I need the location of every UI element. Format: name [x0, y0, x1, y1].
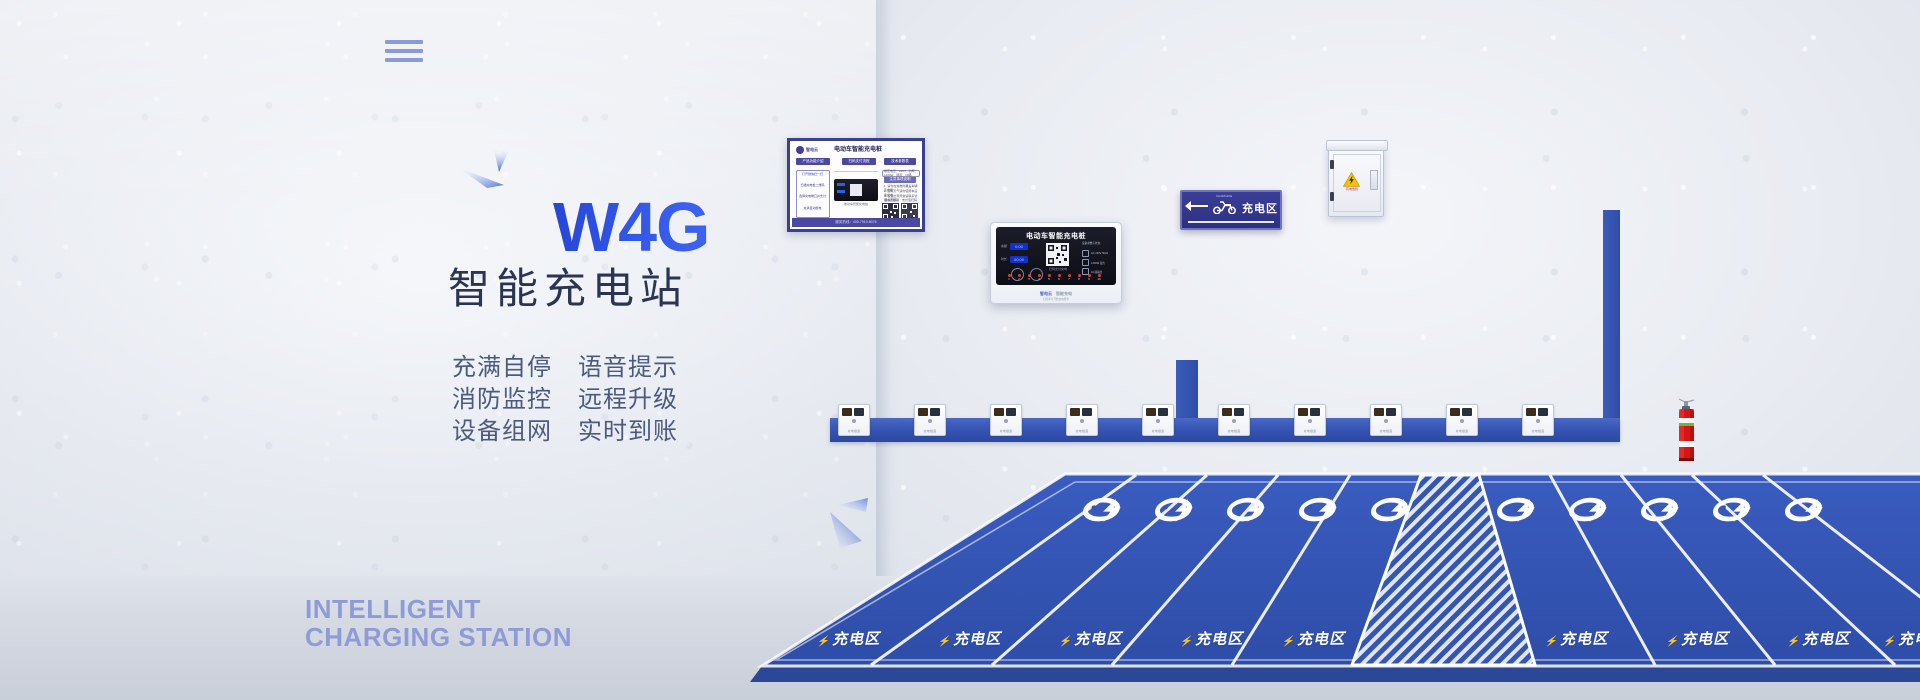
- pile-port[interactable]: 2: [1014, 274, 1024, 281]
- feature-item: 语音提示: [578, 352, 704, 384]
- charging-pile-screen: 电动车智能充电桩 余额 0.00 时长 00:00 扫码支付充电 设备参数与状态…: [996, 227, 1116, 285]
- poster-device-caption: 电动车智能充电桩: [834, 203, 878, 207]
- pile-led-label-1: 余额: [1001, 243, 1007, 250]
- pile-port[interactable]: 1: [1004, 274, 1014, 281]
- poster-device-image: [834, 179, 878, 201]
- feature-item: 充满自停: [452, 352, 578, 384]
- fire-extinguisher[interactable]: [1675, 398, 1701, 464]
- wall-socket[interactable]: 充电插座: [1522, 404, 1554, 436]
- pile-spec-header-text: 设备参数与状态: [1082, 241, 1100, 245]
- conduit-vertical-right: [1603, 210, 1620, 422]
- conduit-vertical-pile: [1176, 360, 1198, 422]
- pile-led-value-2: 00:00: [1010, 256, 1028, 263]
- english-line-1: INTELLIGENT: [305, 595, 572, 623]
- scene-room: 智电云 电动车智能充电桩 产品功能介绍 扫码支付流程 技术参数表 注意事项说明 …: [880, 0, 1920, 700]
- power-icon: [1082, 259, 1089, 266]
- pile-port[interactable]: 5: [1044, 274, 1054, 281]
- pile-spec-header: 设备参数与状态: [1082, 241, 1100, 245]
- wall-socket[interactable]: 充电插座: [1142, 404, 1174, 436]
- wall-socket[interactable]: 充电插座: [1294, 404, 1326, 436]
- wall-socket[interactable]: 充电插座: [914, 404, 946, 436]
- sign-underline: [1188, 221, 1274, 223]
- page-title: W4G: [553, 192, 709, 262]
- cabinet-top: [1326, 140, 1388, 151]
- poster-flow-2: 扫描充电桩二维码: [799, 184, 826, 188]
- pile-spec-row-2: 1200W 最大: [1082, 259, 1105, 266]
- left-arrow-icon: [1190, 205, 1208, 207]
- pile-port[interactable]: 4: [1034, 274, 1044, 281]
- feature-item: 实时到账: [578, 416, 704, 448]
- poster-logo: 智电云: [796, 146, 818, 154]
- wall-socket-label: 充电插座: [1523, 430, 1553, 433]
- wall-socket-label: 充电插座: [1143, 430, 1173, 433]
- pile-port-number: 1: [1004, 278, 1014, 281]
- menu-bar: [385, 58, 423, 62]
- pile-port-number: 2: [1014, 278, 1024, 281]
- sign-sub-label: CHARGING: [1216, 194, 1232, 198]
- pile-port[interactable]: 9: [1084, 274, 1094, 281]
- poster-qr-wechat-label: 微信扫码: [882, 198, 899, 202]
- pile-spec-value-2: 1200W 最大: [1091, 261, 1105, 265]
- wall-socket-label: 充电插座: [1219, 430, 1249, 433]
- pile-port-number: 10: [1094, 278, 1104, 281]
- poster-flow-1: 打开微信扫一扫: [799, 173, 826, 177]
- poster-logo-mark: [796, 146, 804, 154]
- english-line-2: CHARGING STATION: [305, 623, 572, 651]
- pile-port[interactable]: 10: [1094, 274, 1104, 281]
- poster-spec-line: 额定电压：220V · 功率：1200W · 通道：10路: [884, 170, 918, 178]
- pile-footer-note: 扫码即可开始充电服务: [991, 297, 1121, 301]
- pile-port-number: 3: [1024, 278, 1034, 281]
- pile-qr-caption: 扫码支付充电: [1040, 267, 1076, 271]
- feature-row: 设备组网 实时到账: [452, 416, 704, 448]
- charging-pile[interactable]: 电动车智能充电桩 余额 0.00 时长 00:00 扫码支付充电 设备参数与状态…: [990, 222, 1122, 304]
- poster-title: 电动车智能充电桩: [826, 147, 890, 153]
- wall-socket-label: 充电插座: [1067, 430, 1097, 433]
- high-voltage-warning-icon: [1343, 172, 1360, 187]
- pile-qr-code[interactable]: [1046, 243, 1069, 266]
- pile-port-number: 8: [1074, 278, 1084, 281]
- wall-socket[interactable]: 充电插座: [1218, 404, 1250, 436]
- decor-triangles-top: [455, 142, 535, 214]
- direction-sign[interactable]: CHARGING 充电区: [1180, 190, 1282, 230]
- pile-port[interactable]: 6: [1054, 274, 1064, 281]
- pile-port-row: 1 2 3 4 5 6 7 8 9 10: [1004, 274, 1104, 281]
- feature-list: 充满自停 语音提示 消防监控 远程升级 设备组网 实时到账: [452, 352, 704, 448]
- pile-port-number: 9: [1084, 278, 1094, 281]
- feature-item: 远程升级: [578, 384, 704, 416]
- pile-spec-value-3: 10 路输出: [1091, 270, 1102, 274]
- cabinet-warning-label: 有电危险: [1339, 187, 1365, 191]
- pile-led-value-1: 0.00: [1010, 243, 1028, 250]
- charging-pile-title: 电动车智能充电桩: [996, 231, 1116, 241]
- decor-triangles-bottom: [822, 482, 914, 574]
- hero-banner: 智电云 电动车智能充电桩 产品功能介绍 扫码支付流程 技术参数表 注意事项说明 …: [0, 0, 1920, 700]
- wall-socket[interactable]: 充电插座: [1446, 404, 1478, 436]
- menu-bar: [385, 49, 423, 53]
- pile-brand-sub: 智能充电: [1056, 291, 1072, 297]
- pile-led-label-2: 时长: [1001, 256, 1007, 263]
- voltage-icon: [1082, 250, 1089, 257]
- pile-brand: 智电云: [1040, 291, 1052, 297]
- wall-poster[interactable]: 智电云 电动车智能充电桩 产品功能介绍 扫码支付流程 技术参数表 注意事项说明 …: [787, 138, 925, 232]
- menu-button[interactable]: [385, 40, 423, 62]
- wall-socket-label: 充电插座: [1447, 430, 1477, 433]
- wall-socket-label: 充电插座: [1295, 430, 1325, 433]
- socket-rail: 充电插座 充电插座 充电插座 充电插座 充电插座 充电插座 充电插座 充电插座 …: [830, 418, 1620, 442]
- poster-tag-mid: 扫码支付流程: [842, 158, 876, 165]
- wall-socket[interactable]: 充电插座: [990, 404, 1022, 436]
- poster-brand: 智电云: [806, 147, 818, 153]
- pile-port-number: 7: [1064, 278, 1074, 281]
- pile-port[interactable]: 7: [1064, 274, 1074, 281]
- feature-item: 消防监控: [452, 384, 578, 416]
- poster-tag-left: 产品功能介绍: [796, 158, 830, 165]
- wall-socket[interactable]: 充电插座: [1066, 404, 1098, 436]
- english-tagline: INTELLIGENT CHARGING STATION: [305, 595, 572, 651]
- poster-flow-3: 选择充电端口并支付: [799, 195, 826, 199]
- menu-bar: [385, 40, 423, 44]
- pile-footer: 智电云 智能充电 扫码即可开始充电服务: [991, 286, 1121, 301]
- pile-port-number: 4: [1034, 278, 1044, 281]
- scooter-icon: [1212, 200, 1238, 214]
- feature-item: 设备组网: [452, 416, 578, 448]
- wall-socket[interactable]: 充电插座: [838, 404, 870, 436]
- poster-tag-right: 技术参数表: [884, 158, 916, 165]
- wall-socket-label: 充电插座: [1371, 430, 1401, 433]
- wall-socket-label: 充电插座: [839, 430, 869, 433]
- feature-row: 充满自停 语音提示: [452, 352, 704, 384]
- wall-socket-label: 充电插座: [991, 430, 1021, 433]
- pile-port-number: 6: [1054, 278, 1064, 281]
- pile-port-number: 5: [1044, 278, 1054, 281]
- pile-spec-value-1: AC 220V 50Hz: [1091, 252, 1108, 255]
- electrical-cabinet[interactable]: 有电危险: [1328, 145, 1384, 217]
- poster-flow-4: 充满自动断电: [799, 207, 826, 211]
- page-subtitle: 智能充电站: [448, 268, 688, 310]
- feature-row: 消防监控 远程升级: [452, 384, 704, 416]
- poster-qr-alipay-label: 支付宝扫码: [901, 198, 918, 202]
- pile-port[interactable]: 8: [1074, 274, 1084, 281]
- wall-socket-label: 充电插座: [915, 430, 945, 433]
- pile-port[interactable]: 3: [1024, 274, 1034, 281]
- cabinet-handle[interactable]: [1370, 170, 1378, 190]
- sign-label: 充电区: [1242, 200, 1278, 216]
- pile-spec-row-1: AC 220V 50Hz: [1082, 250, 1108, 257]
- wall-socket[interactable]: 充电插座: [1370, 404, 1402, 436]
- poster-footer: 服务热线：400-7910-8076: [792, 218, 920, 227]
